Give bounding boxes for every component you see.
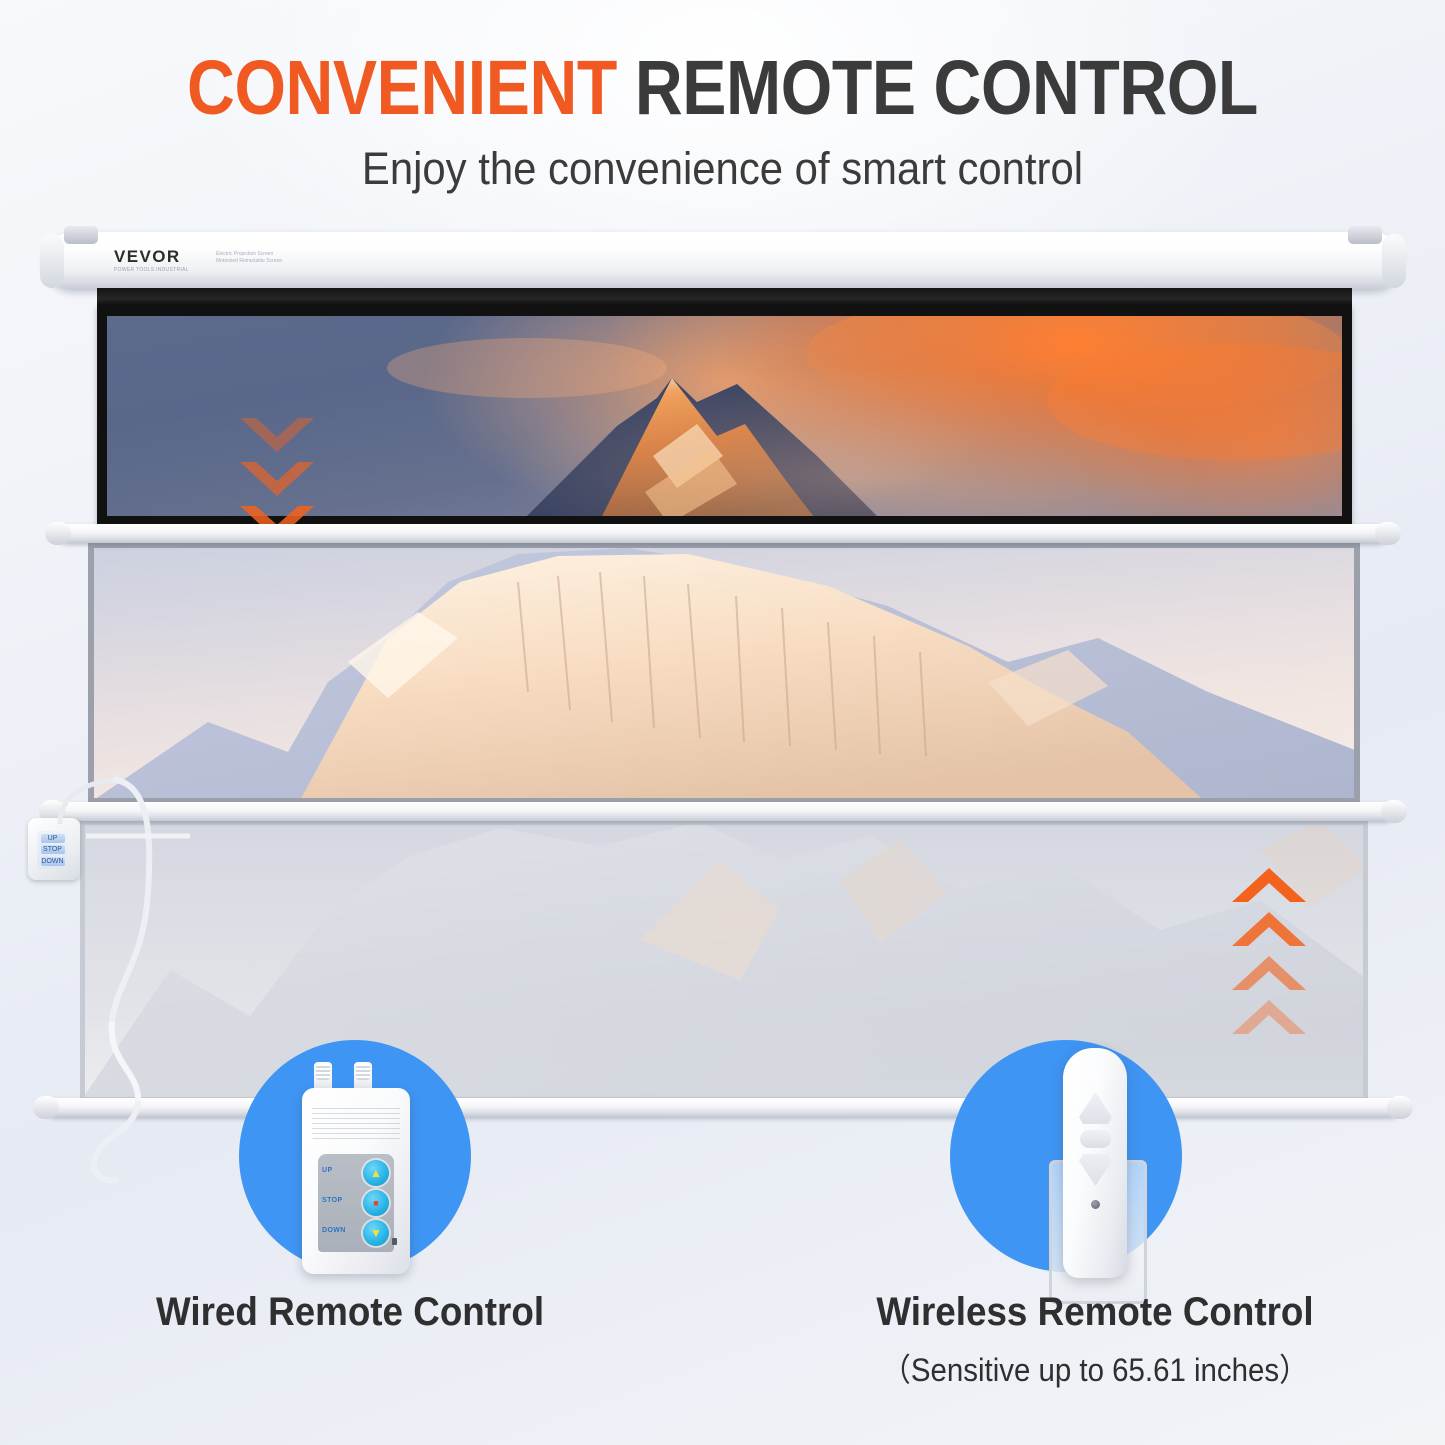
screen-panel-middle bbox=[88, 542, 1360, 804]
weight-bar-cap-right bbox=[1375, 522, 1401, 545]
wired-button-stop[interactable]: ■ bbox=[363, 1190, 389, 1216]
screen-housing: VEVOR POWER TOOLS INDUSTRIAL Electric Pr… bbox=[44, 232, 1402, 290]
wired-remote-vents bbox=[312, 1104, 400, 1140]
product-feature-banner: CONVENIENT REMOTE CONTROL Enjoy the conv… bbox=[0, 0, 1445, 1445]
brand-logo: VEVOR bbox=[114, 247, 181, 267]
chevron-up-icon bbox=[1232, 868, 1306, 902]
housing-end-cap-left bbox=[40, 234, 64, 288]
headline-main: REMOTE CONTROL bbox=[635, 45, 1258, 131]
housing-spec-text: Electric Projection Screen Motorized Ret… bbox=[216, 251, 282, 265]
housing-end-cap-right bbox=[1382, 234, 1406, 288]
brand-tagline: POWER TOOLS INDUSTRIAL bbox=[114, 267, 189, 273]
screen-weight-bar-upper bbox=[58, 524, 1388, 543]
screen-panel-border-middle bbox=[88, 542, 1360, 804]
callout-wired-title: Wired Remote Control bbox=[28, 1290, 672, 1335]
wired-button-down[interactable]: ▼ bbox=[363, 1220, 389, 1246]
wireless-remote-body bbox=[1063, 1048, 1127, 1278]
wireless-status-led bbox=[1091, 1200, 1100, 1209]
wireless-button-up[interactable] bbox=[1079, 1092, 1112, 1124]
wireless-button-down[interactable] bbox=[1079, 1154, 1112, 1186]
wireless-remote-device[interactable] bbox=[1033, 1048, 1157, 1298]
mounting-bracket-left bbox=[64, 226, 98, 244]
screen-panel-upper bbox=[97, 306, 1352, 526]
callout-wireless-title: Wireless Remote Control bbox=[773, 1290, 1417, 1335]
headline-accent: CONVENIENT bbox=[187, 45, 617, 131]
callout-wireless-subtitle: （Sensitive up to 65.61 inches） bbox=[773, 1345, 1417, 1391]
page-title: CONVENIENT REMOTE CONTROL bbox=[101, 0, 1344, 125]
screen-up-arrows bbox=[1232, 868, 1306, 1044]
page-subtitle: Enjoy the convenience of smart control bbox=[51, 125, 1395, 195]
wired-label-stop: STOP bbox=[322, 1197, 343, 1204]
wired-label-down: DOWN bbox=[322, 1227, 346, 1234]
header: CONVENIENT REMOTE CONTROL Enjoy the conv… bbox=[0, 0, 1445, 195]
wired-row-down[interactable]: DOWN ▼ bbox=[318, 1220, 394, 1246]
projection-screen-assembly: VEVOR POWER TOOLS INDUSTRIAL Electric Pr… bbox=[0, 232, 1445, 1152]
chevron-down-icon bbox=[240, 506, 314, 526]
mounting-bracket-right bbox=[1348, 226, 1382, 244]
weight-bar-cap-left bbox=[45, 522, 71, 545]
wired-row-up[interactable]: UP ▲ bbox=[318, 1160, 394, 1186]
wired-remote-device[interactable]: UP ▲ STOP ■ DOWN ▼ bbox=[296, 1062, 416, 1277]
wired-remote-keypad[interactable]: UP ▲ STOP ■ DOWN ▼ bbox=[318, 1154, 394, 1252]
screen-black-leader bbox=[97, 288, 1352, 306]
wired-status-led bbox=[392, 1238, 397, 1245]
chevron-down-icon bbox=[240, 462, 314, 496]
wired-row-stop[interactable]: STOP ■ bbox=[318, 1190, 394, 1216]
wired-remote-body: UP ▲ STOP ■ DOWN ▼ bbox=[302, 1088, 410, 1274]
screen-down-arrows bbox=[240, 418, 314, 526]
wired-label-up: UP bbox=[322, 1167, 333, 1174]
chevron-up-icon bbox=[1232, 1000, 1306, 1034]
feature-callouts: UP ▲ STOP ■ DOWN ▼ W bbox=[0, 1040, 1445, 1445]
chevron-up-icon bbox=[1232, 912, 1306, 946]
wireless-button-stop[interactable] bbox=[1080, 1130, 1111, 1148]
weight-bar-cap-right bbox=[1381, 800, 1407, 823]
chevron-up-icon bbox=[1232, 956, 1306, 990]
screen-weight-bar-middle bbox=[52, 802, 1394, 821]
wired-button-up[interactable]: ▲ bbox=[363, 1160, 389, 1186]
chevron-down-icon bbox=[240, 418, 314, 452]
